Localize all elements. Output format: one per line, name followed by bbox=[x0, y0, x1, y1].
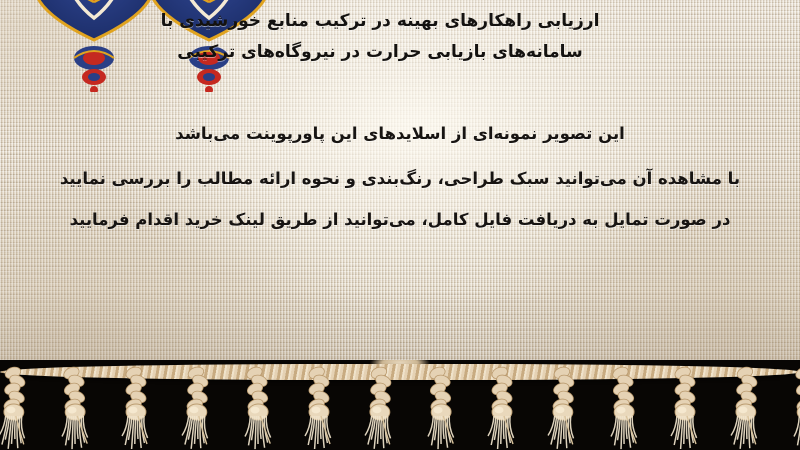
carpet-tassel bbox=[665, 366, 705, 450]
tassel-icon bbox=[603, 365, 646, 450]
slide-canvas: ارزیابی راهکارهای بهینه در ترکیب منابع خ… bbox=[0, 0, 800, 450]
carpet-tassel bbox=[786, 365, 800, 450]
slide-body: این تصویر نمونه‌ای از اسلایدهای این پاور… bbox=[0, 113, 800, 240]
carpet-tassel bbox=[359, 365, 402, 450]
tassel-icon bbox=[0, 365, 35, 450]
title-line-1: ارزیابی راهکارهای بهینه در ترکیب منابع خ… bbox=[0, 6, 760, 37]
carpet-tassel bbox=[420, 365, 463, 450]
tassel-icon bbox=[54, 365, 97, 450]
body-line-3: در صورت تمایل به دریافت فایل کامل، می‌تو… bbox=[0, 199, 800, 240]
carpet-tassel bbox=[237, 365, 280, 450]
carpet-fringe-band bbox=[0, 360, 800, 450]
tassel-icon bbox=[299, 366, 339, 450]
slide-title: ارزیابی راهکارهای بهینه در ترکیب منابع خ… bbox=[0, 6, 800, 68]
carpet-tassel bbox=[603, 365, 646, 450]
carpet-tassel bbox=[542, 365, 585, 450]
title-line-2: سامانه‌های بازیابی حرارت در نیروگاه‌های … bbox=[0, 37, 760, 68]
tassel-icon bbox=[359, 365, 402, 450]
carpet-tassel bbox=[725, 365, 768, 450]
tassel-icon bbox=[725, 365, 768, 450]
tassel-icon bbox=[665, 366, 705, 450]
carpet-tassel bbox=[299, 366, 339, 450]
tassel-icon bbox=[482, 366, 522, 450]
carpet-tassel bbox=[54, 365, 97, 450]
tassel-icon bbox=[786, 365, 800, 450]
tassel-icon bbox=[176, 365, 219, 450]
carpet-tassel bbox=[0, 365, 35, 450]
tassel-icon bbox=[237, 365, 280, 450]
tassel-icon bbox=[542, 365, 585, 450]
tassel-icon bbox=[116, 366, 156, 450]
tassel-icon bbox=[420, 365, 463, 450]
body-line-2: با مشاهده آن می‌توانید سبک طراحی، رنگ‌بن… bbox=[0, 158, 800, 199]
body-line-1: این تصویر نمونه‌ای از اسلایدهای این پاور… bbox=[0, 113, 800, 154]
carpet-tassel bbox=[482, 366, 522, 450]
carpet-tassel bbox=[116, 366, 156, 450]
carpet-tassel bbox=[176, 365, 219, 450]
